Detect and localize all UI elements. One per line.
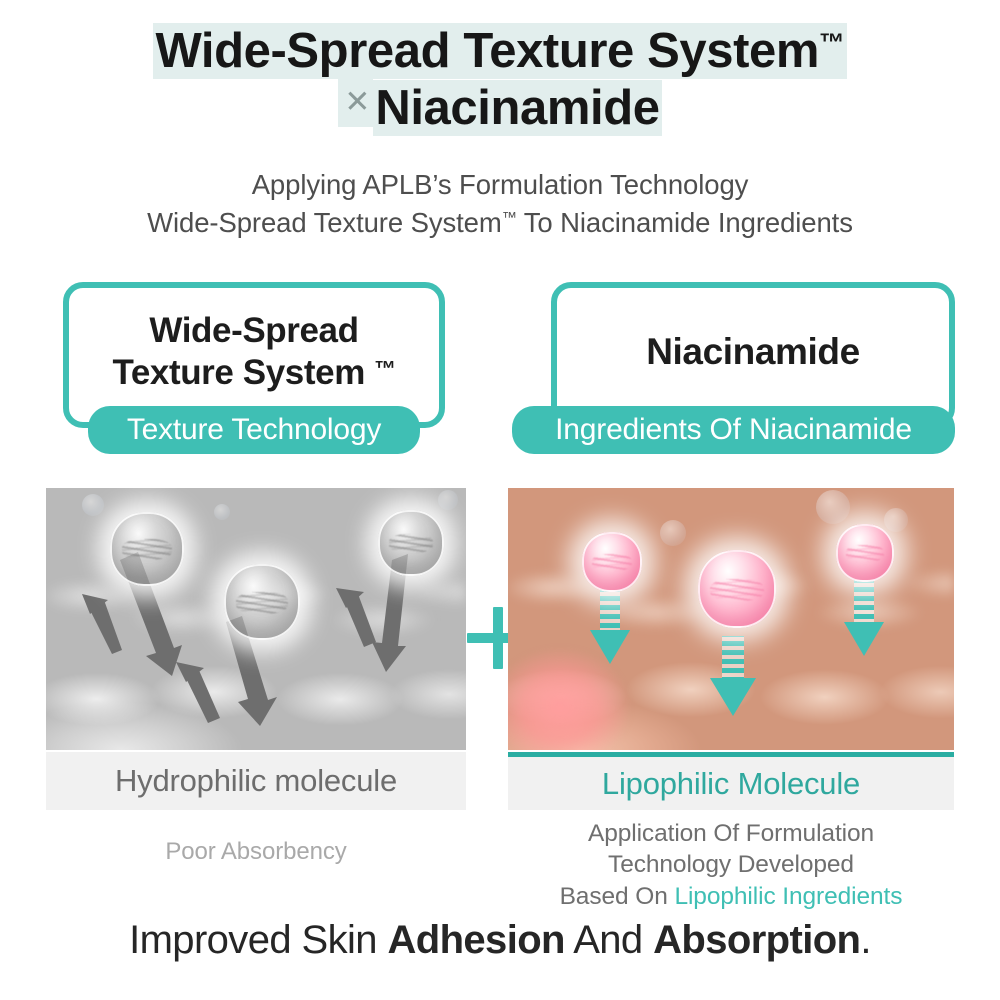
pill-texture-technology: Texture Technology: [88, 406, 420, 454]
droplet-pattern: [389, 534, 434, 553]
footer-bold-adhesion: Adhesion: [387, 918, 564, 962]
footer-text-a: Improved Skin: [129, 918, 387, 962]
page-title: Wide-Spread Texture System™ ✕Niacinamide: [0, 24, 1000, 136]
cross-symbol-icon: ✕: [338, 79, 373, 127]
droplet-pattern: [122, 539, 172, 560]
card-niacinamide-title: Niacinamide: [646, 330, 860, 380]
note-line-3: Based On Lipophilic Ingredients: [508, 881, 954, 912]
trademark-symbol: ™: [374, 356, 395, 381]
subtitle-line-2: Wide-Spread Texture System™ To Niacinami…: [0, 204, 1000, 242]
title-line-2: ✕Niacinamide: [0, 79, 1000, 136]
title-line-1: Wide-Spread Texture System™: [0, 24, 1000, 79]
footer-text-b: And: [565, 918, 653, 962]
note-poor-absorbency: Poor Absorbency: [46, 838, 466, 866]
pill-ingredients-of-niacinamide: Ingredients Of Niacinamide: [512, 406, 955, 454]
panel-hydrophilic: Hydrophilic molecule: [46, 488, 466, 750]
note-line-1: Application Of Formulation: [508, 818, 954, 849]
teal-arrow-right: [844, 580, 884, 656]
lipophilic-illustration: [508, 488, 954, 750]
card-texture-title-line1: Wide-Spread: [149, 311, 358, 350]
trademark-symbol: ™: [502, 209, 517, 226]
droplet-pattern: [846, 545, 885, 561]
droplet-lipophilic: [698, 550, 776, 628]
droplet-hydrophilic: [110, 512, 184, 586]
droplet-lipophilic: [836, 524, 894, 582]
subtitle: Applying APLB’s Formulation Technology W…: [0, 166, 1000, 241]
teal-arrow-left: [590, 586, 630, 664]
note-formulation-technology: Application Of Formulation Technology De…: [508, 818, 954, 912]
footer-text-c: .: [860, 918, 871, 962]
caption-hydrophilic: Hydrophilic molecule: [46, 752, 466, 810]
note-line-2: Technology Developed: [508, 849, 954, 880]
title-line-2-text: Niacinamide: [373, 80, 661, 136]
infographic-root: Wide-Spread Texture System™ ✕Niacinamide…: [0, 0, 1000, 1000]
caption-lipophilic: Lipophilic Molecule: [508, 752, 954, 810]
subtitle-line-1: Applying APLB’s Formulation Technology: [0, 166, 1000, 204]
footer-bold-absorption: Absorption: [653, 918, 860, 962]
droplet-pattern: [592, 554, 632, 571]
droplet-pattern: [236, 592, 288, 614]
droplet-lipophilic: [582, 532, 642, 592]
footer-headline: Improved Skin Adhesion And Absorption.: [0, 918, 1000, 963]
card-texture-title: Wide-Spread Texture System ™: [112, 310, 395, 400]
droplet-hydrophilic: [224, 564, 300, 640]
trademark-symbol: ™: [819, 29, 844, 57]
hydrophilic-illustration: [46, 488, 466, 750]
formula-cards: Wide-Spread Texture System ™ Texture Tec…: [0, 282, 1000, 467]
droplet-pattern: [710, 579, 763, 601]
card-texture-title-line2: Texture System: [112, 353, 374, 392]
teal-arrow-center: [710, 636, 756, 716]
note-accent-lipophilic: Lipophilic Ingredients: [674, 883, 902, 910]
droplet-hydrophilic: [378, 510, 444, 576]
panel-lipophilic: Lipophilic Molecule: [508, 488, 954, 750]
title-line-1-text: Wide-Spread Texture System™: [153, 23, 846, 79]
